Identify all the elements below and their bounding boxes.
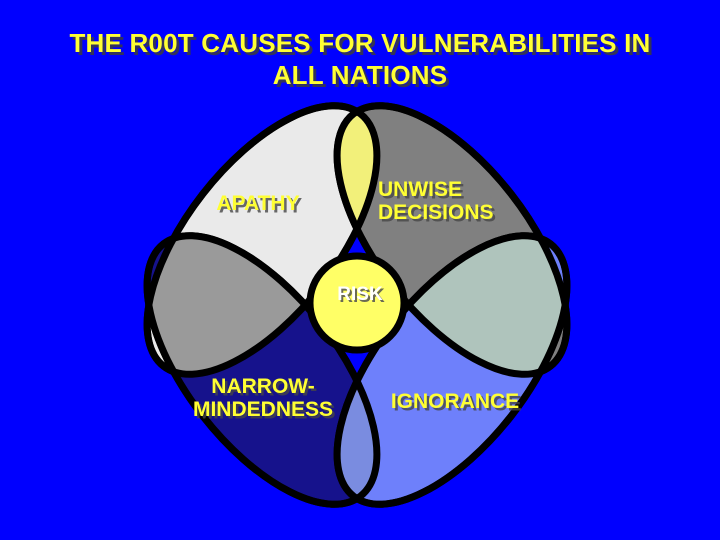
venn-diagram bbox=[0, 0, 720, 540]
risk-circle[interactable] bbox=[310, 256, 404, 350]
slide-canvas: THE R00T CAUSES FOR VULNERABILITIES IN A… bbox=[0, 0, 720, 540]
